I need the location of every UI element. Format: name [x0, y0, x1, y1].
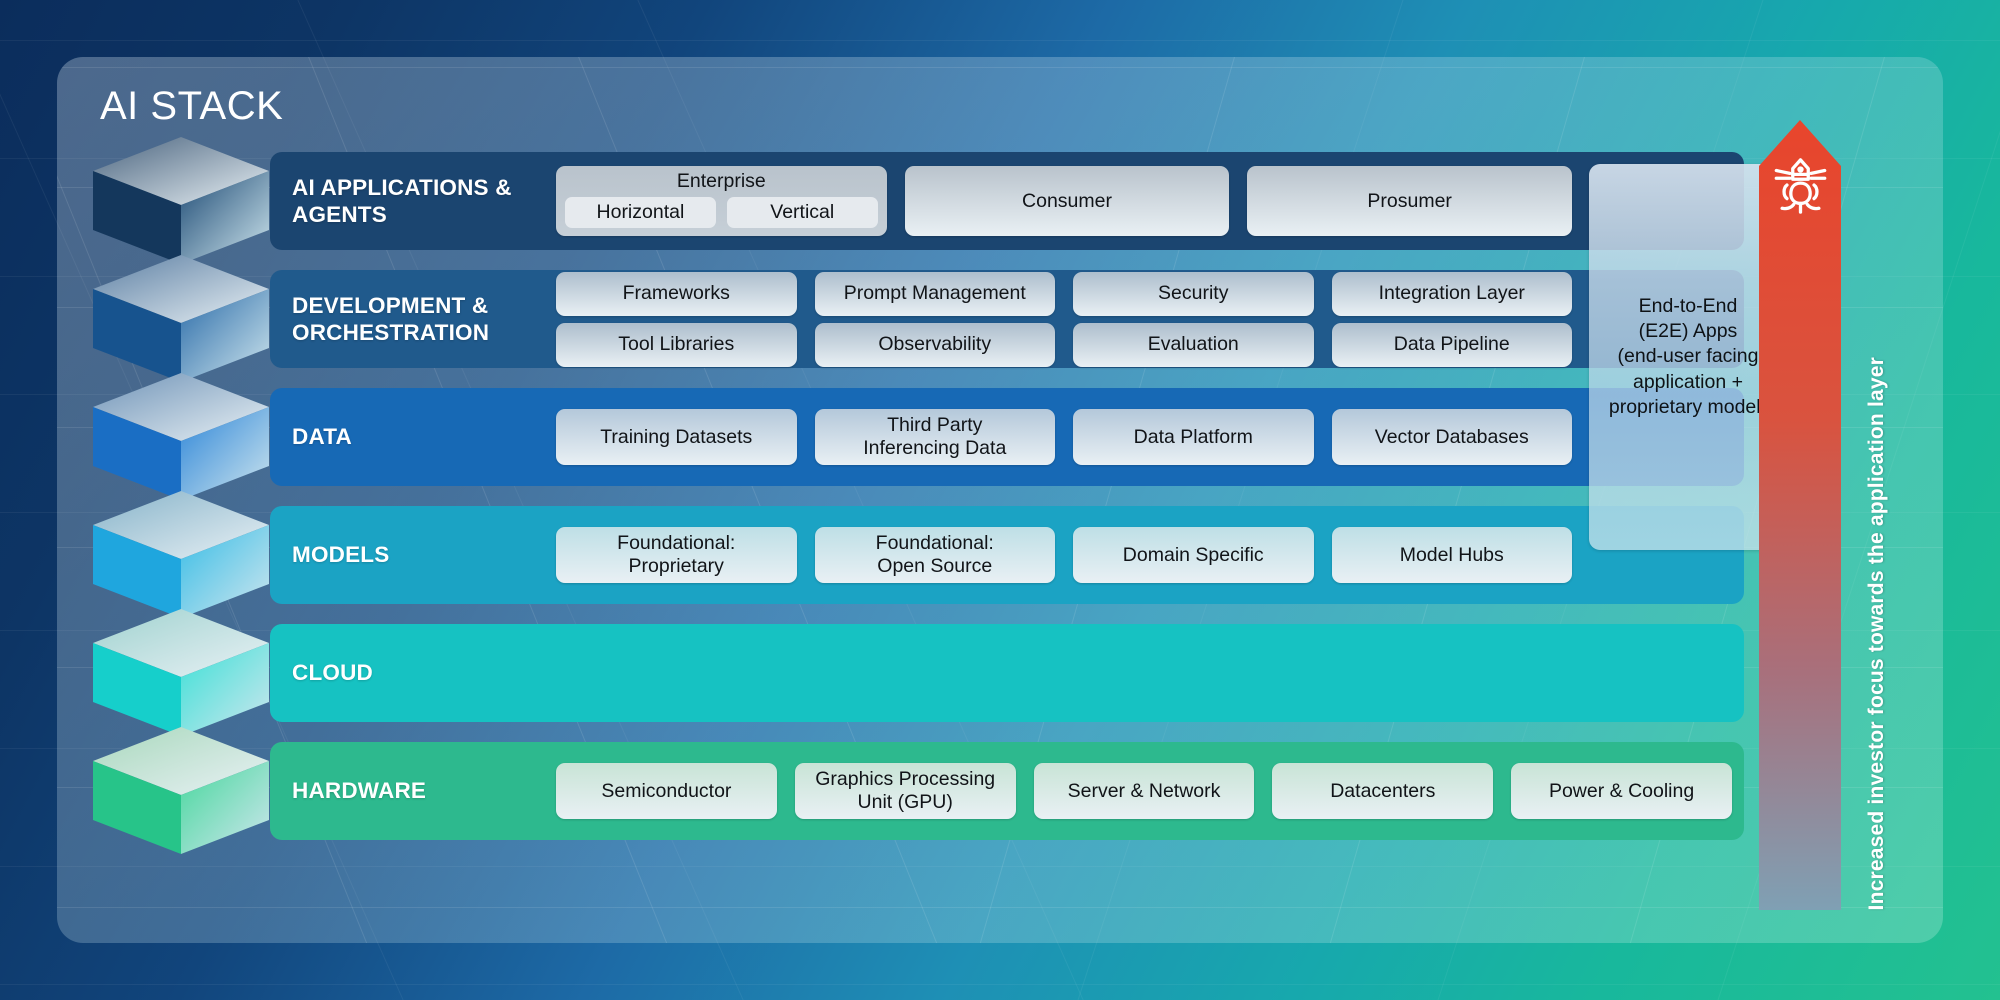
- layer-label-data: DATA: [292, 388, 547, 486]
- item-security[interactable]: Security: [1073, 272, 1314, 316]
- layer-item-row: Training DatasetsThird PartyInferencing …: [556, 409, 1572, 465]
- item-training-datasets[interactable]: Training Datasets: [556, 409, 797, 465]
- item-graphics-processing-unit[interactable]: Graphics ProcessingUnit (GPU): [795, 763, 1016, 819]
- layer-label-applications: AI APPLICATIONS & AGENTS: [292, 152, 547, 250]
- stack-layer-hardware: HARDWARESemiconductorGraphics Processing…: [92, 742, 1744, 840]
- item-data-pipeline[interactable]: Data Pipeline: [1332, 323, 1573, 367]
- layer-item-row: Tool LibrariesObservabilityEvaluationDat…: [556, 323, 1572, 367]
- stack-layer-models: MODELSFoundational:ProprietaryFoundation…: [92, 506, 1744, 604]
- item-enterprise-subitems: HorizontalVertical: [565, 197, 878, 228]
- item-data-platform[interactable]: Data Platform: [1073, 409, 1314, 465]
- layer-label-development: DEVELOPMENT & ORCHESTRATION: [292, 270, 547, 368]
- ai-stack-layers: AI APPLICATIONS & AGENTSEnterpriseHorizo…: [92, 152, 1744, 892]
- rocket-icon: [1773, 156, 1828, 216]
- item-third-party-inferencing-data[interactable]: Third PartyInferencing Data: [815, 409, 1056, 465]
- item-foundational-open-source[interactable]: Foundational:Open Source: [815, 527, 1056, 583]
- layer-item-row: FrameworksPrompt ManagementSecurityInteg…: [556, 272, 1572, 316]
- layer-items-models: Foundational:ProprietaryFoundational:Ope…: [552, 506, 1576, 604]
- item-enterprise-label: Enterprise: [677, 171, 766, 192]
- item-domain-specific[interactable]: Domain Specific: [1073, 527, 1314, 583]
- cube-development: [92, 255, 270, 383]
- item-consumer[interactable]: Consumer: [905, 166, 1230, 235]
- layer-item-row: EnterpriseHorizontalVerticalConsumerPros…: [556, 166, 1572, 235]
- cube-data: [92, 373, 270, 501]
- item-prosumer[interactable]: Prosumer: [1247, 166, 1572, 235]
- item-semiconductor[interactable]: Semiconductor: [556, 763, 777, 819]
- item-frameworks[interactable]: Frameworks: [556, 272, 797, 316]
- cube-models: [92, 491, 270, 619]
- item-foundational-proprietary[interactable]: Foundational:Proprietary: [556, 527, 797, 583]
- item-horizontal[interactable]: Horizontal: [565, 197, 716, 228]
- item-enterprise[interactable]: EnterpriseHorizontalVertical: [556, 166, 887, 235]
- item-evaluation[interactable]: Evaluation: [1073, 323, 1314, 367]
- item-datacenters[interactable]: Datacenters: [1272, 763, 1493, 819]
- stack-layer-applications: AI APPLICATIONS & AGENTSEnterpriseHorizo…: [92, 152, 1744, 250]
- layer-item-row: Foundational:ProprietaryFoundational:Ope…: [556, 527, 1572, 583]
- investor-focus-arrow: Increased investor focus towards the app…: [1745, 120, 1975, 910]
- item-integration-layer[interactable]: Integration Layer: [1332, 272, 1573, 316]
- layer-label-cloud: CLOUD: [292, 624, 547, 722]
- layer-items-development: FrameworksPrompt ManagementSecurityInteg…: [552, 270, 1576, 368]
- cube-cloud: [92, 609, 270, 737]
- item-tool-libraries[interactable]: Tool Libraries: [556, 323, 797, 367]
- cube-applications: [92, 137, 270, 265]
- arrow-shape: [1759, 120, 1841, 910]
- layer-item-row: SemiconductorGraphics ProcessingUnit (GP…: [556, 763, 1732, 819]
- item-vector-databases[interactable]: Vector Databases: [1332, 409, 1573, 465]
- layer-items-data: Training DatasetsThird PartyInferencing …: [552, 388, 1576, 486]
- item-vertical[interactable]: Vertical: [727, 197, 878, 228]
- stack-layer-cloud: CLOUD: [92, 624, 1744, 722]
- item-prompt-management[interactable]: Prompt Management: [815, 272, 1056, 316]
- cube-hardware: [92, 727, 270, 855]
- item-power-and-cooling[interactable]: Power & Cooling: [1511, 763, 1732, 819]
- item-model-hubs[interactable]: Model Hubs: [1332, 527, 1573, 583]
- item-observability[interactable]: Observability: [815, 323, 1056, 367]
- stack-layer-data: DATATraining DatasetsThird PartyInferenc…: [92, 388, 1744, 486]
- stack-layer-development: DEVELOPMENT & ORCHESTRATIONFrameworksPro…: [92, 270, 1744, 368]
- layer-label-hardware: HARDWARE: [292, 742, 547, 840]
- arrow-caption-text: Increased investor focus towards the app…: [1865, 357, 1889, 910]
- layer-items-hardware: SemiconductorGraphics ProcessingUnit (GP…: [552, 742, 1736, 840]
- item-server-and-network[interactable]: Server & Network: [1034, 763, 1255, 819]
- arrow-caption: Increased investor focus towards the app…: [1857, 120, 1897, 910]
- layer-label-models: MODELS: [292, 506, 547, 604]
- layer-items-applications: EnterpriseHorizontalVerticalConsumerPros…: [552, 152, 1576, 250]
- page-title: AI STACK: [100, 84, 283, 129]
